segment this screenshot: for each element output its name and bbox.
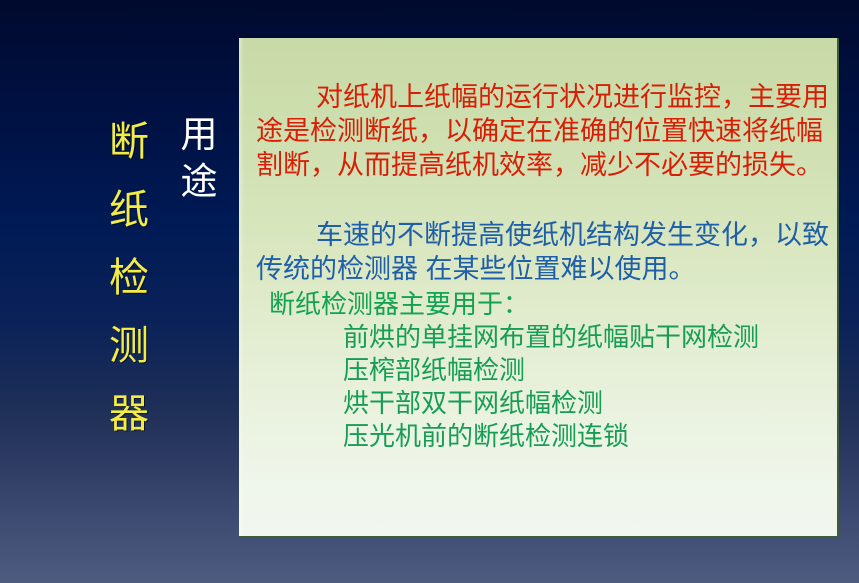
title-char-2: 纸 bbox=[98, 176, 160, 244]
subtitle-vertical: 用 途 bbox=[176, 112, 222, 206]
subtitle-char-1: 用 bbox=[176, 112, 222, 159]
list-item: 压光机前的断纸检测连锁 bbox=[343, 420, 839, 453]
presentation-slide: 断 纸 检 测 器 用 途 对纸机上纸幅的运行状况进行监控，主要用途是检测断纸，… bbox=[0, 0, 859, 583]
green-application-list: 前烘的单挂网布置的纸幅贴干网检测 压榨部纸幅检测 烘干部双干网纸幅检测 压光机前… bbox=[343, 321, 839, 453]
green-heading: 断纸检测器主要用于： bbox=[269, 287, 829, 321]
panel-body: 对纸机上纸幅的运行状况进行监控，主要用途是检测断纸，以确定在准确的位置快速将纸幅… bbox=[239, 38, 837, 536]
title-char-5: 器 bbox=[98, 380, 160, 448]
subtitle-char-2: 途 bbox=[176, 159, 222, 206]
red-intro-paragraph: 对纸机上纸幅的运行状况进行监控，主要用途是检测断纸，以确定在准确的位置快速将纸幅… bbox=[256, 80, 834, 182]
list-item: 烘干部双干网纸幅检测 bbox=[343, 387, 839, 420]
title-char-4: 测 bbox=[98, 312, 160, 380]
list-item: 压榨部纸幅检测 bbox=[343, 354, 839, 387]
content-panel: 对纸机上纸幅的运行状况进行监控，主要用途是检测断纸，以确定在准确的位置快速将纸幅… bbox=[239, 38, 839, 538]
blue-paragraph: 车速的不断提高使纸机结构发生变化，以致传统的检测器 在某些位置难以使用。 bbox=[256, 218, 834, 286]
page-title-vertical: 断 纸 检 测 器 bbox=[98, 108, 160, 448]
title-char-3: 检 bbox=[98, 244, 160, 312]
list-item: 前烘的单挂网布置的纸幅贴干网检测 bbox=[343, 321, 839, 354]
title-char-1: 断 bbox=[98, 108, 160, 176]
